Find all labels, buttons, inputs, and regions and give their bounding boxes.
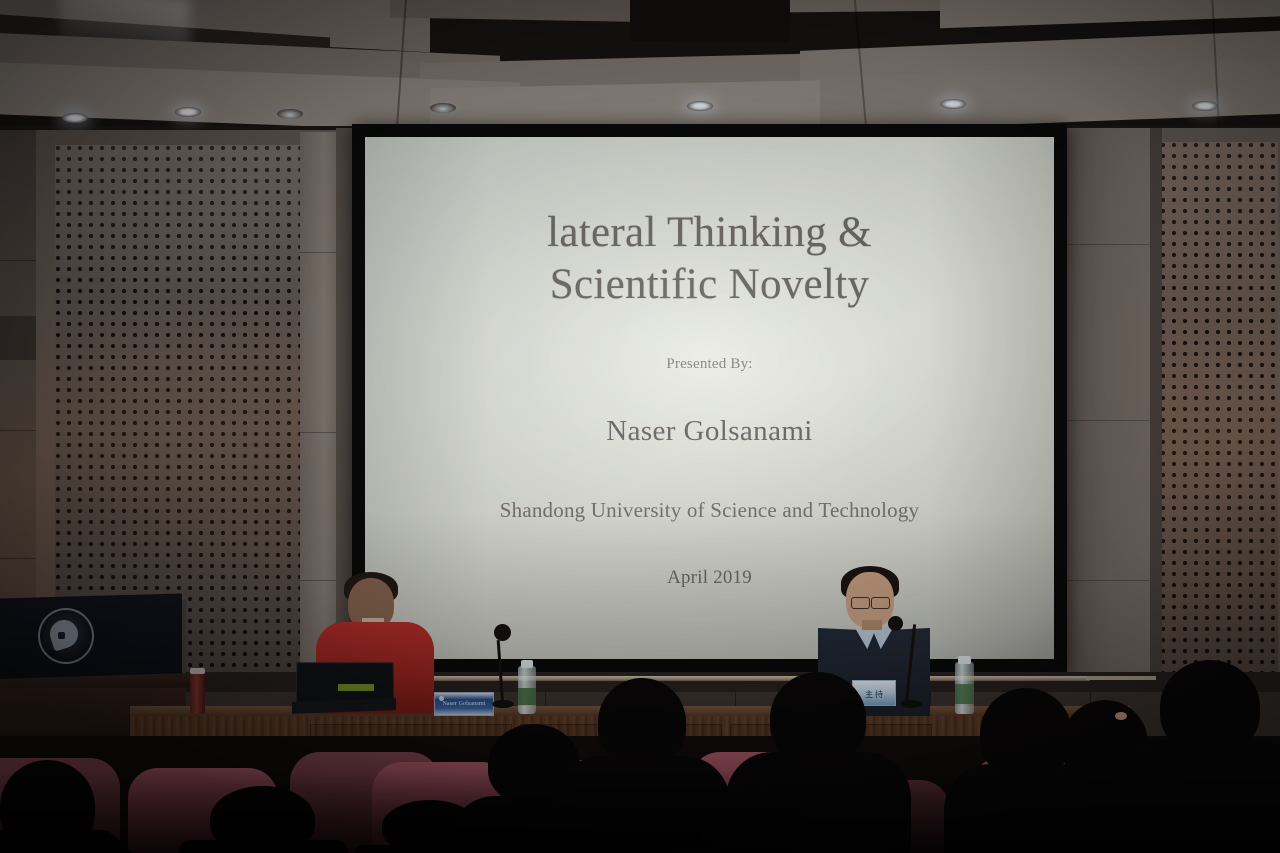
microphone-right-base [900,700,922,708]
microphone-left-base [492,700,514,708]
ceiling-downlight-5 [940,99,966,109]
microphone-left-icon [494,624,511,641]
water-bottle-left-label [518,688,536,705]
glasses-left-lens-icon [851,597,870,609]
audience-head [980,688,1072,778]
projection-screen: lateral Thinking & Scientific Novelty Pr… [352,124,1067,672]
slide-author: Naser Golsanami [606,415,813,448]
ceiling-downlight-3 [430,103,456,113]
thermos-cap [190,668,205,674]
nameplate-left-text: Naser Golsanami [435,701,493,707]
audience-head [770,672,866,764]
ceiling-downlight-0 [62,113,88,123]
presentation-slide: lateral Thinking & Scientific Novelty Pr… [365,137,1054,659]
acoustic-panel-right [1160,142,1278,682]
water-bottle-right-cap [958,656,971,664]
audience-head [700,800,810,853]
thermos-flask [190,672,205,714]
slide-title-line1: lateral Thinking & [547,207,872,259]
slide-title-line2: Scientific Novelty [547,259,872,311]
audience-head [210,786,315,853]
audience-head [0,760,95,853]
laptop-sticker [338,684,374,691]
ceiling-downlight-2 [277,109,303,119]
ceiling-downlight-1 [175,107,201,117]
glasses-right-lens-icon [871,597,890,609]
screen-surface: lateral Thinking & Scientific Novelty Pr… [365,137,1054,659]
slide-organization: Shandong University of Science and Techn… [500,498,919,523]
slide-date: April 2019 [667,567,752,589]
water-bottle-left-cap [521,660,533,668]
wall-seam-right [1150,128,1162,694]
emblem-center-icon [58,632,65,639]
water-bottle-right-label [955,684,974,704]
audience-head [1160,660,1260,754]
microphone-right-icon [888,616,903,631]
slide-presented-by-label: Presented By: [666,356,752,373]
wall-ledge-rail-right [1086,676,1156,680]
audience-shoulders [1115,740,1280,853]
wall-ledge-rail [330,676,1090,681]
ceiling-downlight-6 [1192,101,1218,111]
wall-pilaster-right [1063,128,1155,694]
audience-head [598,678,686,766]
ceiling-downlight-4 [687,101,713,111]
nameplate-left: Naser Golsanami [434,692,494,716]
slide-title: lateral Thinking & Scientific Novelty [547,207,872,312]
lecture-hall-photo: lateral Thinking & Scientific Novelty Pr… [0,0,1280,853]
